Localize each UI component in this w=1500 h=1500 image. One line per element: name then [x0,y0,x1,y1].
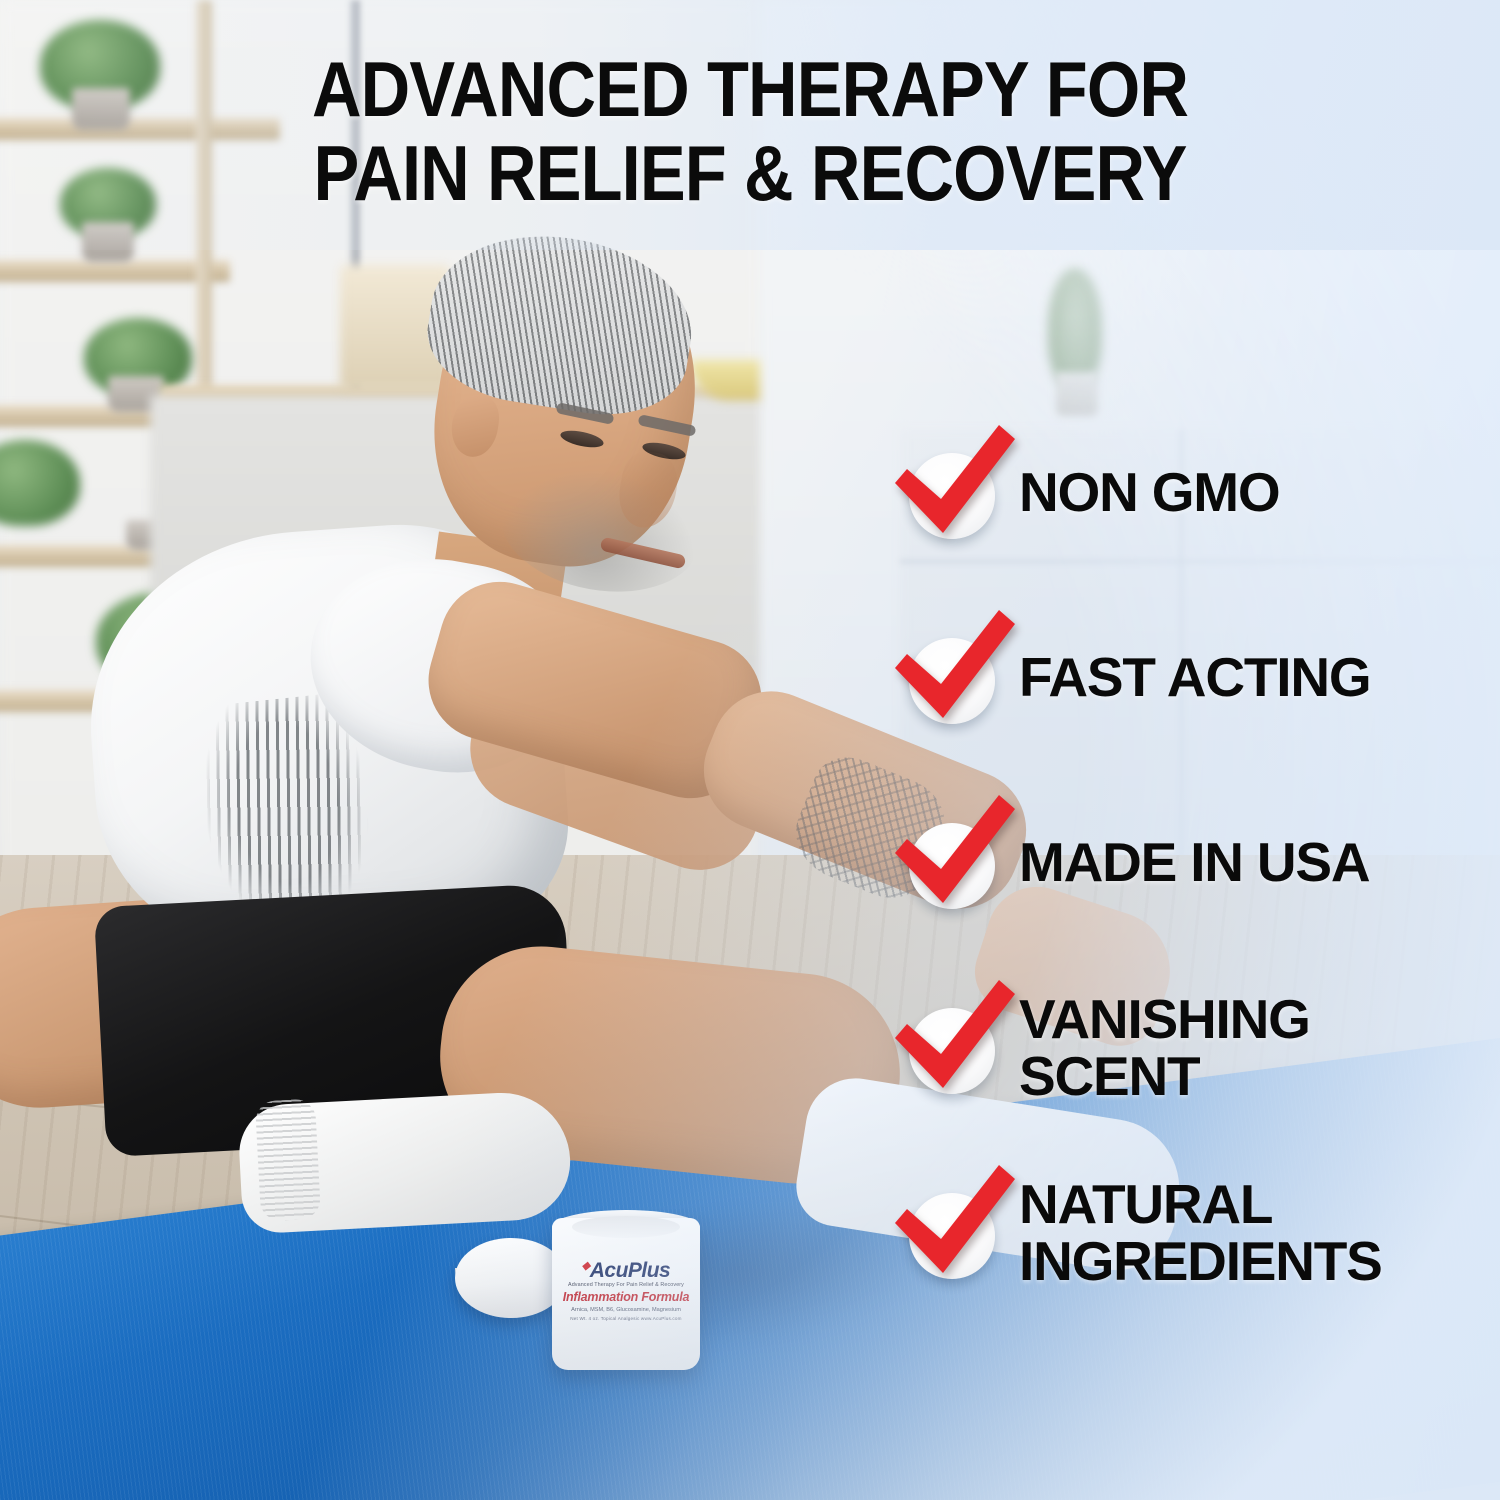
feature-label: NATURAL INGREDIENTS [1019,1176,1439,1288]
check-badge [893,803,1013,923]
check-badge [893,433,1013,553]
feature-label: MADE IN USA [1019,835,1369,890]
product-ingredients: Arnica, MSM, B6, Glucosamine, Magnesium [552,1308,700,1314]
jar-opening [572,1216,680,1238]
red-check-icon [887,417,1023,549]
sock-cuff [255,1099,321,1222]
red-check-icon [887,1157,1023,1289]
feature-item: MADE IN USA [893,770,1493,955]
feature-item: FAST ACTING [893,585,1493,770]
product-netwt: Net Wt. 4 oz. Topical Analgesic www.AcuP… [552,1317,700,1322]
check-badge [893,1173,1013,1293]
brand-name: ◆AcuPlus [552,1260,700,1281]
red-check-icon [887,787,1023,919]
page-title: ADVANCED THERAPY FOR PAIN RELIEF & RECOV… [90,52,1410,210]
product-jar: ◆AcuPlus Advanced Therapy For Pain Relie… [552,1218,700,1370]
feature-label: VANISHING SCENT [1019,991,1409,1103]
product-formula: Inflammation Formula [552,1291,700,1304]
feature-item: NATURAL INGREDIENTS [893,1140,1493,1325]
check-badge [893,988,1013,1108]
feature-label: FAST ACTING [1019,650,1370,705]
feature-checklist: NON GMO FAST ACTING MADE IN USA [893,400,1493,1325]
product-marketing-image: ◆AcuPlus Advanced Therapy For Pain Relie… [0,0,1500,1500]
check-badge [893,618,1013,738]
feature-item: NON GMO [893,400,1493,585]
product-tagline: Advanced Therapy For Pain Relief & Recov… [552,1283,700,1288]
feature-label: NON GMO [1019,465,1279,520]
jar-lid [455,1238,567,1318]
red-check-icon [887,972,1023,1104]
headline-line-1: ADVANCED THERAPY FOR [312,45,1188,133]
jar-label: ◆AcuPlus Advanced Therapy For Pain Relie… [552,1260,700,1356]
brand-accent-icon: ◆ [582,1260,590,1272]
red-check-icon [887,602,1023,734]
headline-line-2: PAIN RELIEF & RECOVERY [90,136,1410,210]
feature-item: VANISHING SCENT [893,955,1493,1140]
